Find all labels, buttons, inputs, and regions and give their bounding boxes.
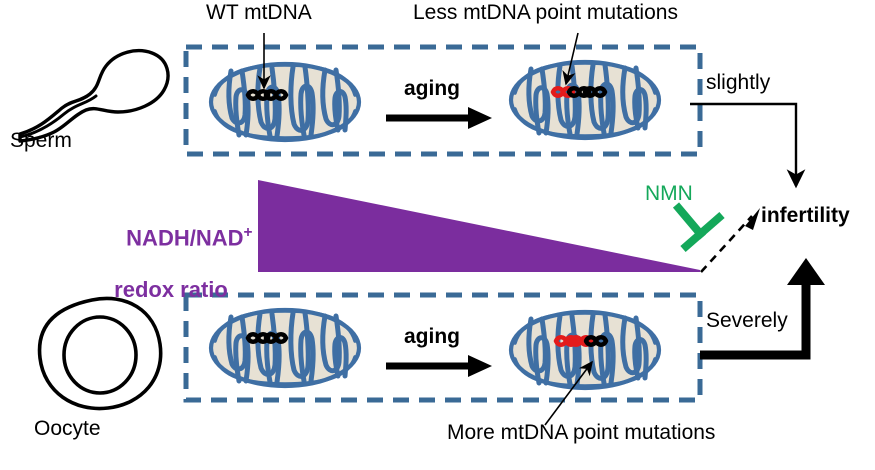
slightly-arrow — [690, 104, 796, 186]
mitochondrion-oocyte-aged — [511, 312, 659, 388]
mitochondrion-sperm-aged — [511, 62, 659, 138]
aging-arrow-sperm — [386, 107, 492, 129]
label-less-mtdna-point-mutations: Less mtDNA point mutations — [413, 2, 678, 24]
figure-canvas: WT mtDNA Less mtDNA point mutations agin… — [0, 0, 875, 470]
label-more-mtdna-point-mutations: More mtDNA point mutations — [447, 422, 715, 444]
label-slightly: slightly — [706, 72, 770, 94]
oocyte-illustration — [40, 298, 161, 408]
mitochondrion-sperm-young — [211, 64, 359, 140]
label-aging-bottom: aging — [404, 326, 460, 348]
mtdna-sperm-aged — [553, 88, 605, 96]
nadh-nad-gradient-wedge — [258, 180, 700, 272]
label-wt-mtdna: WT mtDNA — [206, 2, 312, 24]
mitochondrion-oocyte-young — [211, 310, 359, 386]
label-nmn: NMN — [645, 183, 693, 205]
label-severely: Severely — [706, 310, 788, 332]
sperm-illustration — [20, 51, 168, 141]
label-oocyte: Oocyte — [34, 418, 101, 440]
label-nadh-nad-redox-ratio: NADH/NAD+ redox ratio — [88, 198, 254, 303]
nmn-inhibition-symbol — [676, 205, 722, 249]
severely-arrow — [700, 258, 825, 355]
redox-to-infertility-arrow — [701, 208, 760, 272]
label-sperm: Sperm — [10, 130, 72, 152]
redox-ratio-text: redox ratio — [88, 277, 254, 303]
nad-plus-superscript: + — [244, 224, 253, 241]
label-aging-top: aging — [404, 78, 460, 100]
nadh-nad-text: NADH/NAD — [126, 225, 243, 250]
aging-arrow-oocyte — [386, 355, 492, 377]
label-infertility: infertility — [761, 205, 850, 227]
